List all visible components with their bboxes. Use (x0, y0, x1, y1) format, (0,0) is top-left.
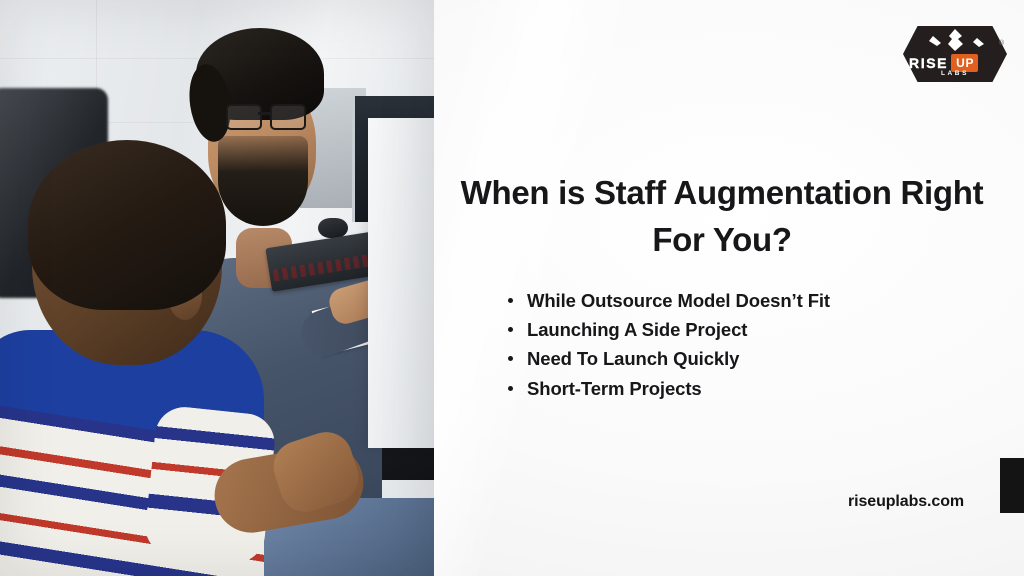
page-title: When is Staff Augmentation Right For You… (448, 170, 996, 264)
logo-text-rise: RISE (909, 56, 948, 70)
slide-canvas: RISE UP LABS ® When is Staff Augmentatio… (0, 0, 1024, 576)
logo-wordmark: RISE UP (909, 54, 1001, 71)
logo-text-labs: LABS (903, 71, 1007, 78)
list-item: Short-Term Projects (505, 374, 975, 403)
registered-trademark-icon: ® (999, 40, 1004, 47)
riseup-labs-logo[interactable]: RISE UP LABS ® (903, 26, 1007, 88)
list-item: Need To Launch Quickly (505, 344, 975, 373)
edge-accent-block (1000, 458, 1024, 513)
hero-photo (0, 0, 434, 576)
mountain-svg (911, 27, 999, 57)
list-item: Launching A Side Project (505, 315, 975, 344)
logo-text-up: UP (951, 54, 978, 72)
website-url[interactable]: riseuplabs.com (0, 494, 964, 510)
benefit-list: While Outsource Model Doesn’t Fit Launch… (505, 286, 975, 403)
photo-vignette (0, 0, 434, 576)
list-item: While Outsource Model Doesn’t Fit (505, 286, 975, 315)
mountain-icon (911, 27, 999, 57)
